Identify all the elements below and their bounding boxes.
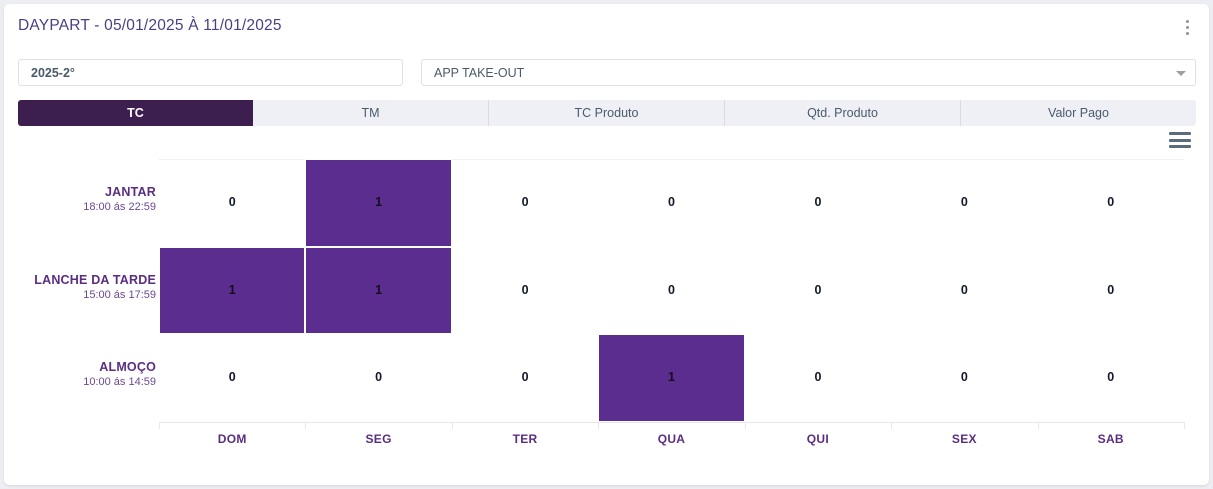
value-label: 0	[305, 370, 451, 384]
tab-tc[interactable]: TC	[18, 100, 253, 126]
card-header: DAYPART - 05/01/2025 À 11/01/2025	[4, 4, 1209, 51]
row-label-3: ALMOÇO10:00 ás 14:59	[4, 360, 156, 388]
value-label: 0	[1038, 283, 1184, 297]
x-axis-label-sex: SEX	[891, 432, 1037, 446]
chart-axis-line	[159, 422, 1184, 423]
tab-label: TC	[127, 106, 144, 120]
tab-label: TM	[361, 106, 379, 120]
value-label: 1	[305, 283, 451, 297]
value-label: 0	[159, 195, 305, 209]
kebab-dot	[1186, 32, 1189, 35]
value-label: 0	[1038, 195, 1184, 209]
value-label: 0	[159, 370, 305, 384]
value-label: 1	[159, 283, 305, 297]
daypart-name: JANTAR	[4, 185, 156, 199]
hamburger-line	[1169, 132, 1191, 135]
axis-tick	[1038, 422, 1039, 429]
channel-filter-select[interactable]: APP TAKE-OUT	[421, 59, 1196, 86]
row-label-1: JANTAR18:00 ás 22:59	[4, 185, 156, 213]
value-label: 0	[452, 370, 598, 384]
value-label: 1	[598, 370, 744, 384]
tab-tm[interactable]: TM	[253, 100, 489, 126]
daypart-card: DAYPART - 05/01/2025 À 11/01/2025 2025-2…	[4, 4, 1209, 485]
x-axis-label-dom: DOM	[159, 432, 305, 446]
axis-tick	[305, 422, 306, 429]
tab-label: Valor Pago	[1048, 106, 1109, 120]
axis-tick	[598, 422, 599, 429]
chevron-down-icon[interactable]	[1176, 71, 1186, 76]
daypart-time-range: 15:00 ás 17:59	[4, 289, 156, 301]
tab-valor-pago[interactable]: Valor Pago	[961, 100, 1196, 126]
axis-tick	[1184, 422, 1185, 429]
hamburger-line	[1169, 139, 1191, 142]
kebab-vertical-icon[interactable]	[1177, 15, 1197, 39]
x-axis-label-sab: SAB	[1038, 432, 1184, 446]
axis-tick	[745, 422, 746, 429]
value-label: 0	[891, 195, 1037, 209]
value-label: 0	[598, 283, 744, 297]
tab-label: TC Produto	[575, 106, 639, 120]
value-label: 0	[1038, 370, 1184, 384]
kebab-dot	[1186, 20, 1189, 23]
value-label: 1	[305, 195, 451, 209]
tab-label: Qtd. Produto	[807, 106, 878, 120]
x-axis-label-seg: SEG	[305, 432, 451, 446]
tab-tc-produto[interactable]: TC Produto	[489, 100, 725, 126]
kebab-dot	[1186, 26, 1189, 29]
channel-filter-value: APP TAKE-OUT	[422, 66, 524, 80]
x-axis-label-ter: TER	[452, 432, 598, 446]
tab-qtd-produto[interactable]: Qtd. Produto	[725, 100, 961, 126]
value-label: 0	[891, 283, 1037, 297]
x-axis-label-qui: QUI	[745, 432, 891, 446]
axis-tick	[159, 422, 160, 429]
axis-tick	[452, 422, 453, 429]
value-label: 0	[745, 195, 891, 209]
period-filter-input[interactable]: 2025-2°	[18, 59, 403, 86]
period-filter-value: 2025-2°	[19, 66, 75, 80]
daypart-time-range: 10:00 ás 14:59	[4, 376, 156, 388]
value-label: 0	[745, 283, 891, 297]
value-label: 0	[745, 370, 891, 384]
axis-tick	[891, 422, 892, 429]
x-axis-label-qua: QUA	[598, 432, 744, 446]
value-label: 0	[891, 370, 1037, 384]
value-label: 0	[452, 283, 598, 297]
page-title: DAYPART - 05/01/2025 À 11/01/2025	[18, 17, 282, 35]
row-label-2: LANCHE DA TARDE15:00 ás 17:59	[4, 273, 156, 301]
value-label: 0	[452, 195, 598, 209]
daypart-time-range: 18:00 ás 22:59	[4, 201, 156, 213]
daypart-name: ALMOÇO	[4, 360, 156, 374]
daypart-bar-chart: JANTAR18:00 ás 22:590100000LANCHE DA TAR…	[4, 144, 1209, 464]
value-label: 0	[598, 195, 744, 209]
metric-tabs: TCTMTC ProdutoQtd. ProdutoValor Pago	[18, 100, 1196, 126]
daypart-name: LANCHE DA TARDE	[4, 273, 156, 287]
